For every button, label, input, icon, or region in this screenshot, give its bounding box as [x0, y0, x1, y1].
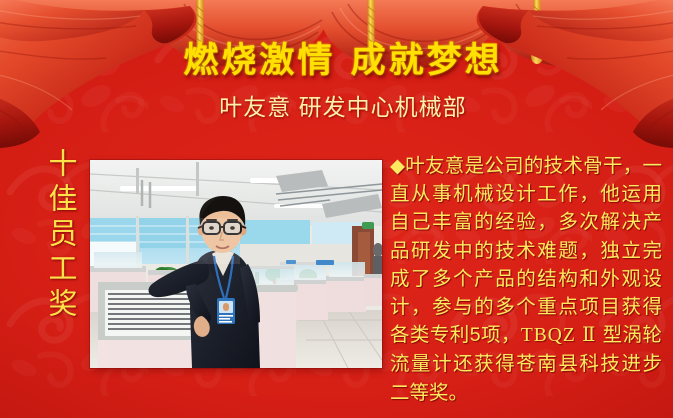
recipient-photo	[90, 160, 382, 368]
product-model-code: TBQZ Ⅱ	[521, 325, 597, 346]
diamond-bullet-icon: ◆	[390, 155, 405, 177]
description-text-part1: 叶友意是公司的技术骨干，一直从事机械设计工作，他运用自己丰富的经验，多次解决产品…	[390, 155, 662, 346]
recipient-description: ◆叶友意是公司的技术骨干，一直从事机械设计工作，他运用自己丰富的经验，多次解决产…	[390, 152, 662, 407]
subtitle-name-department: 叶友意 研发中心机械部	[108, 92, 578, 122]
page-title: 燃烧激情 成就梦想	[108, 40, 578, 82]
award-poster: 燃烧激情 成就梦想 叶友意 研发中心机械部 十佳员工奖	[0, 0, 673, 418]
award-label-vertical: 十佳员工奖	[45, 148, 79, 323]
